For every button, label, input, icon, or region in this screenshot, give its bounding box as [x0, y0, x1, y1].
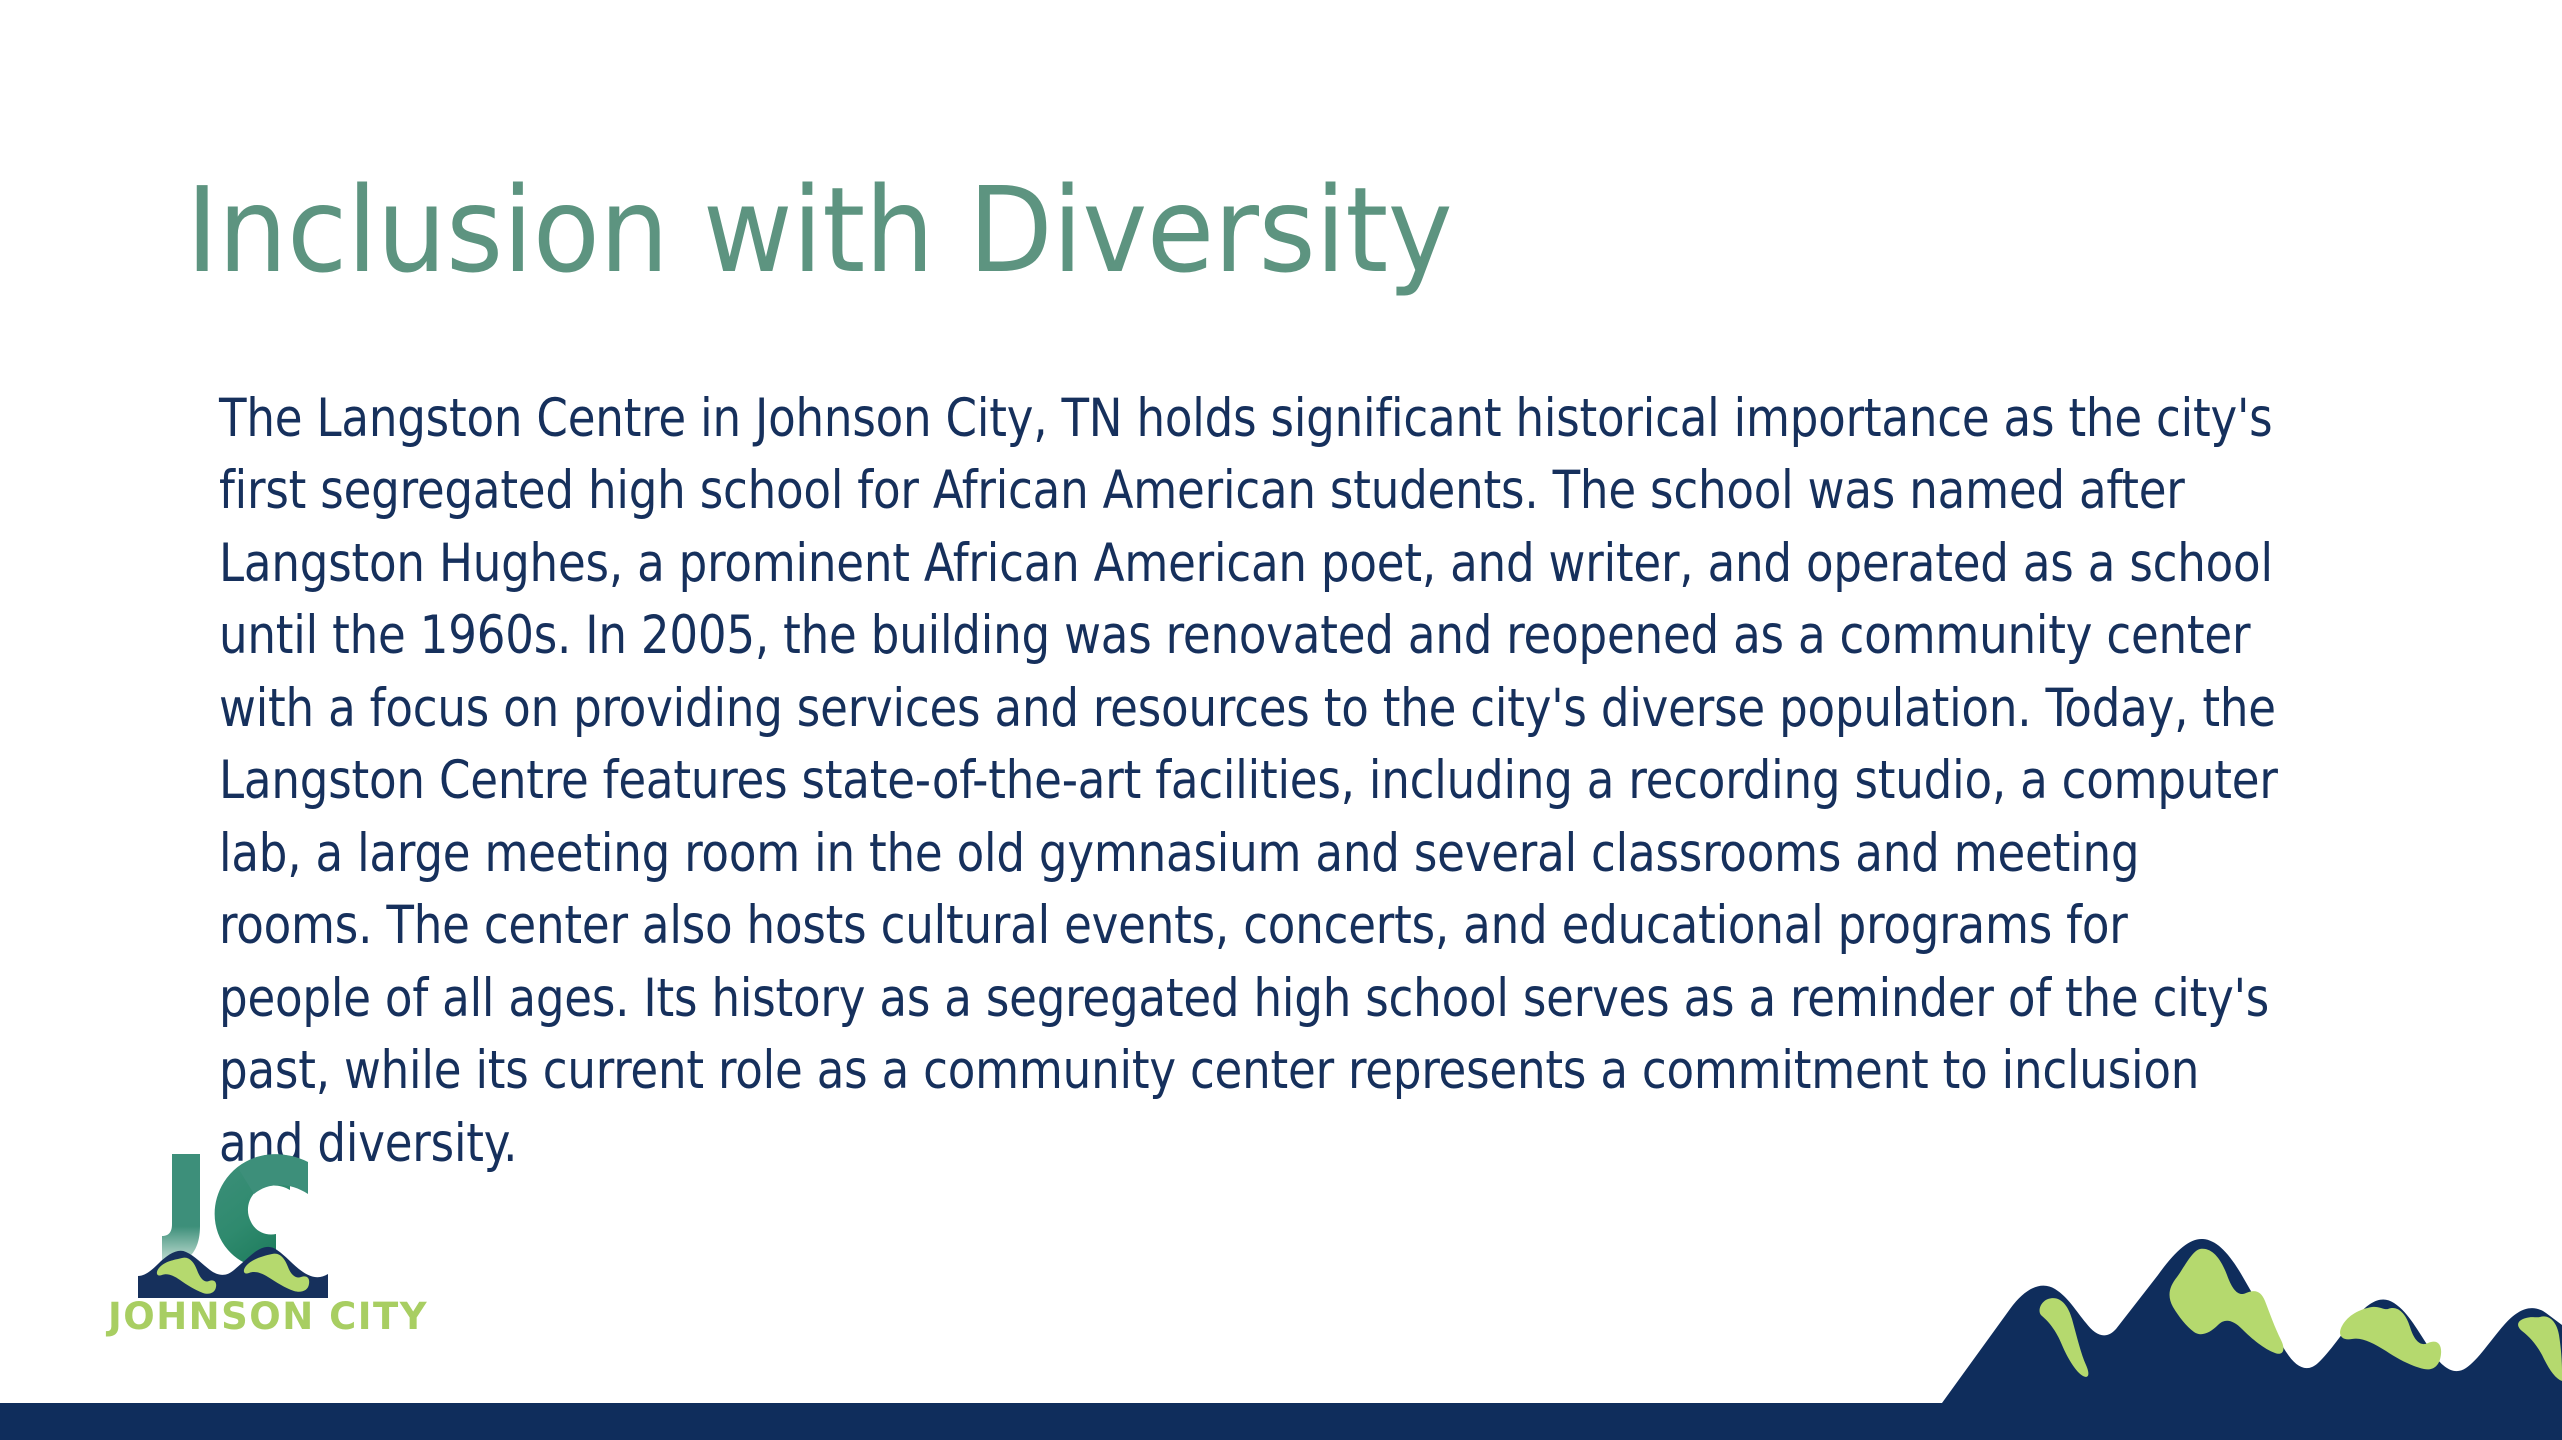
johnson-city-logo: JOHNSON CITY: [108, 1148, 408, 1353]
body-paragraph: The Langston Centre in Johnson City, TN …: [219, 383, 2282, 1181]
page-title: Inclusion with Diversity: [186, 171, 1674, 289]
johnson-city-wordmark: JOHNSON CITY: [108, 1298, 408, 1335]
mountain-decoration-icon: [1890, 1213, 2562, 1403]
jc-monogram-icon: [138, 1148, 328, 1298]
bottom-accent-bar: [0, 1403, 2562, 1440]
slide-canvas: Inclusion with Diversity The Langston Ce…: [0, 0, 2562, 1440]
